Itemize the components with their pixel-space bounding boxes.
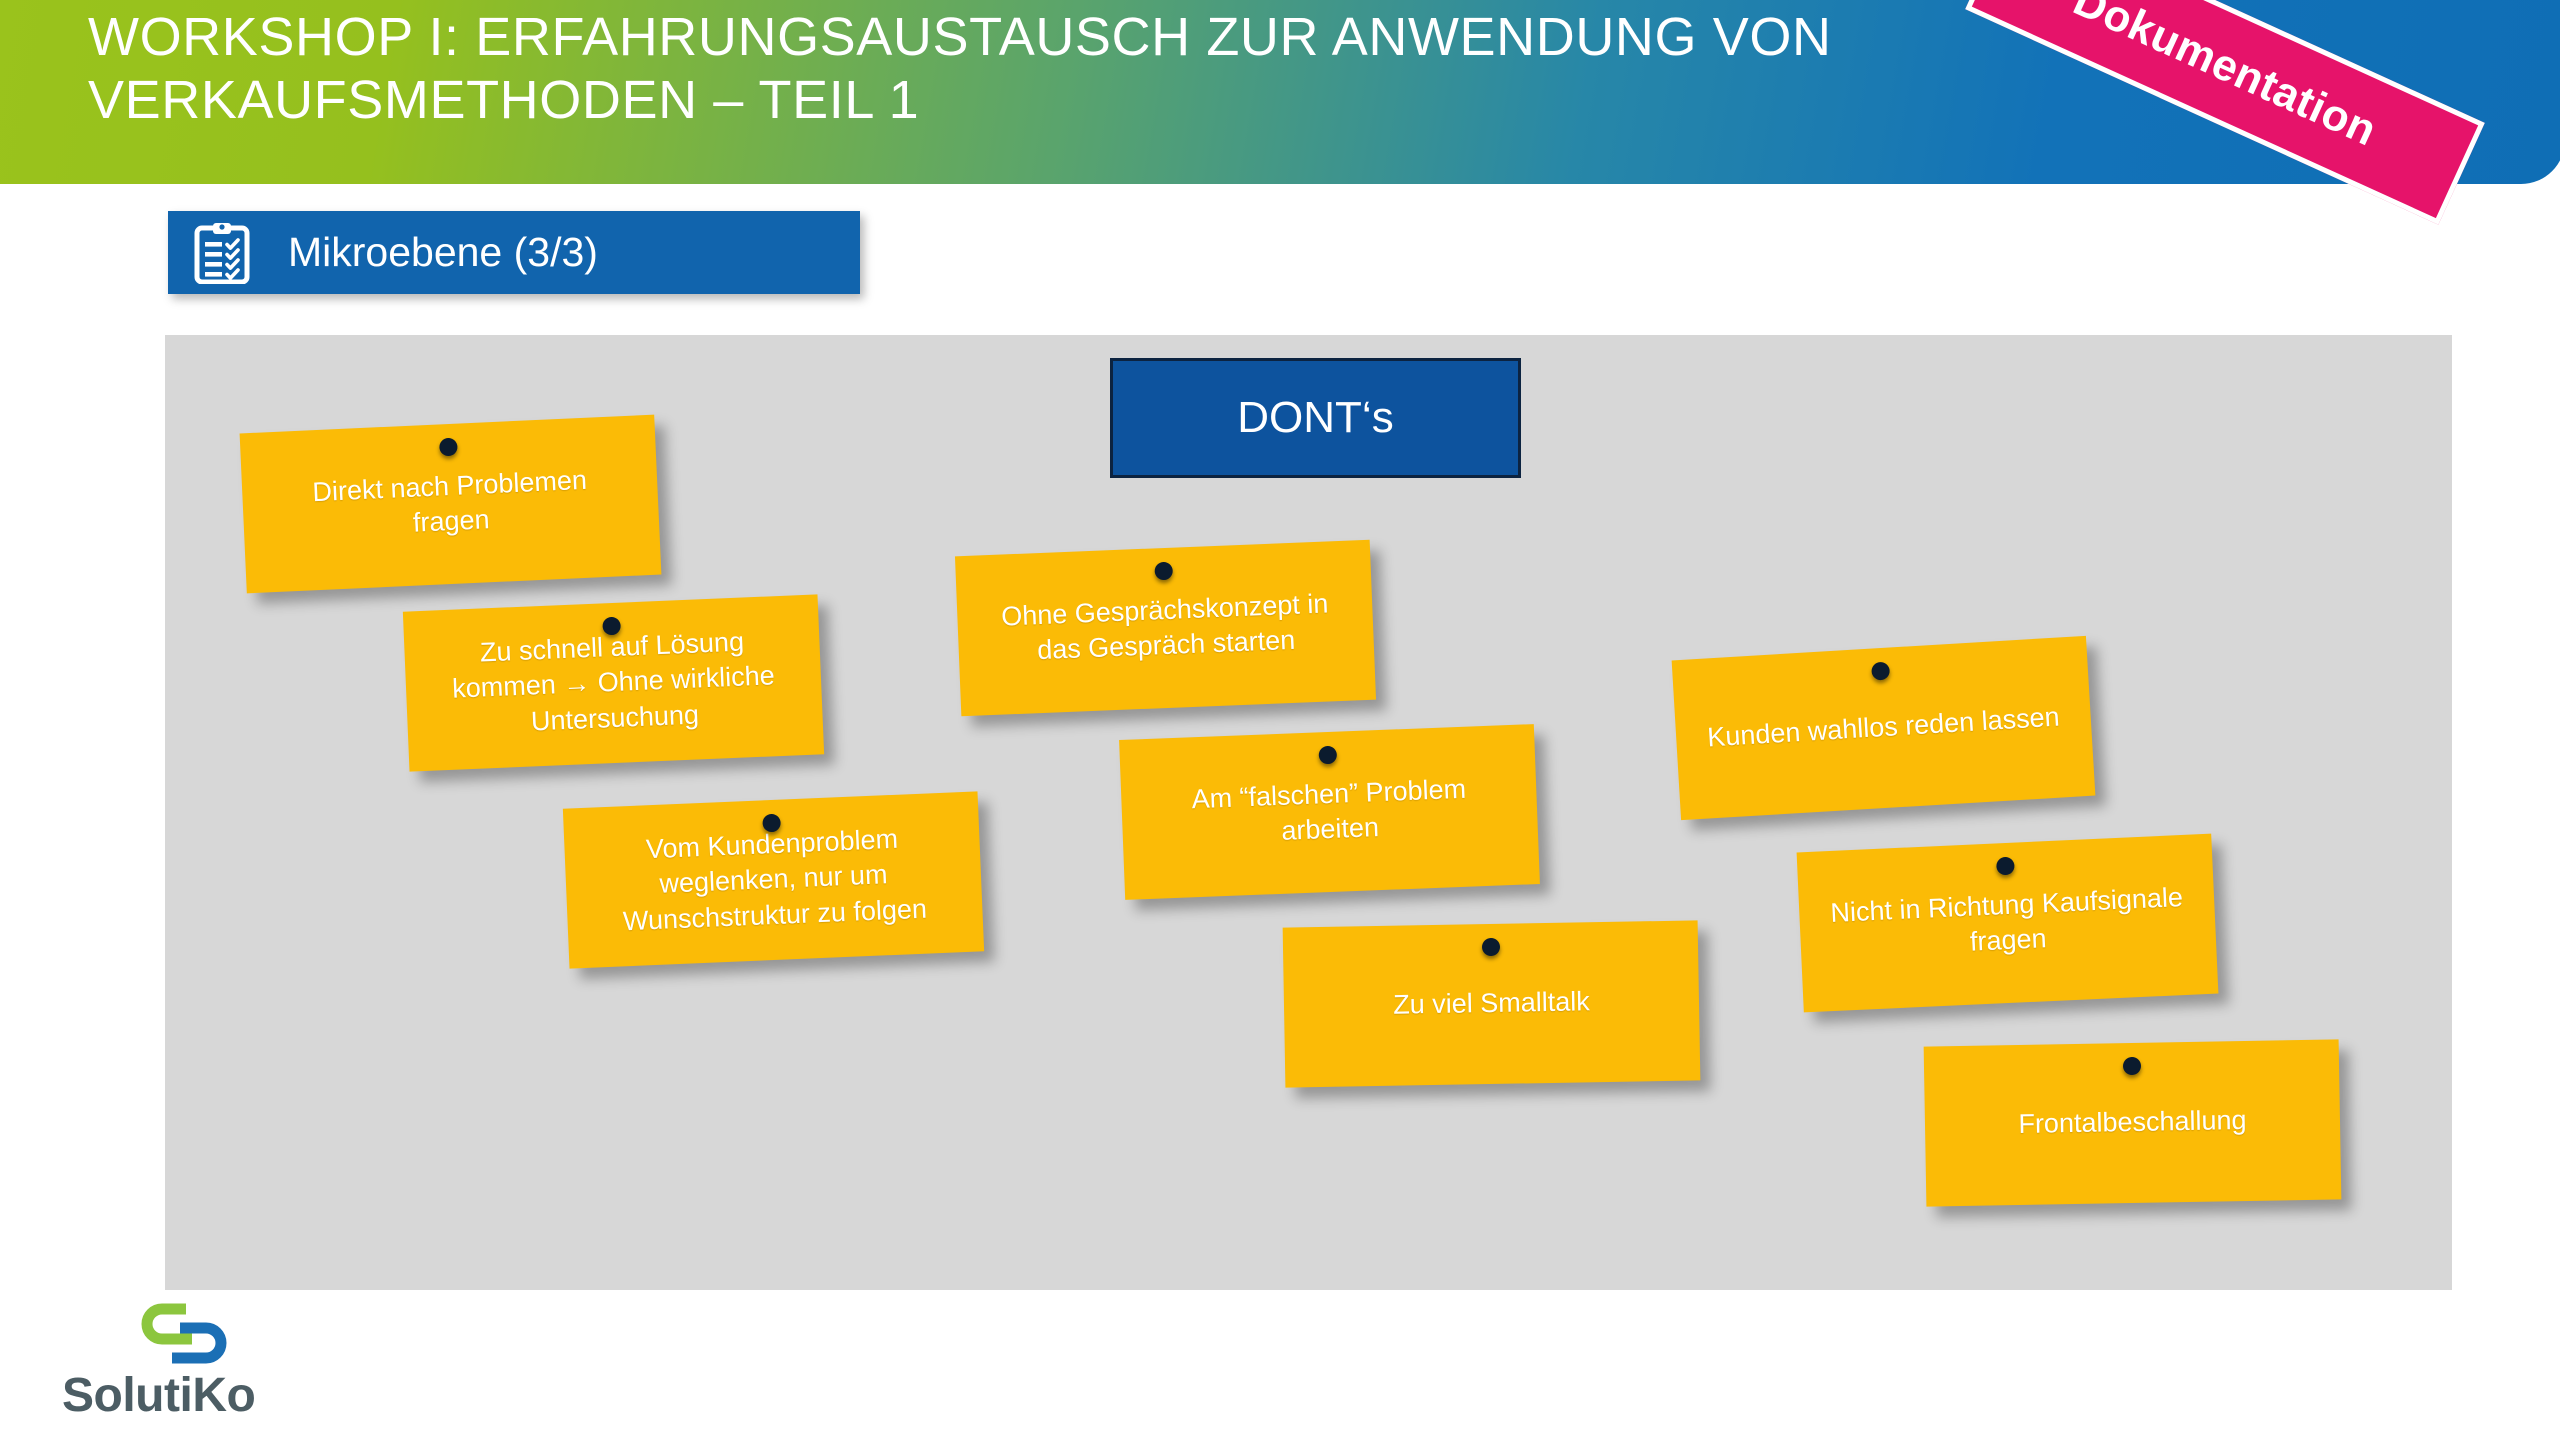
sticky-note-text: Zu schnell auf Lösung kommen → Ohne wirk… (450, 624, 777, 743)
pin-icon (1481, 938, 1499, 956)
sticky-note-text: Frontalbeschallung (2018, 1103, 2247, 1142)
sticky-note-text: Zu viel Smalltalk (1393, 985, 1590, 1024)
sticky-note-text: Nicht in Richtung Kaufsignale fragen (1830, 880, 2186, 966)
pin-icon (1318, 746, 1337, 765)
section-badge[interactable]: Mikroebene (3/3) (168, 211, 860, 294)
donts-heading-label: DONT‘s (1237, 393, 1393, 443)
pin-icon (762, 814, 781, 833)
sticky-note[interactable]: Vom Kundenproblem weglenken, nur um Wuns… (563, 791, 984, 968)
sticky-note[interactable]: Kunden wahllos reden lassen (1672, 636, 2096, 820)
sticky-note[interactable]: Zu viel Smalltalk (1283, 920, 1701, 1087)
pin-icon (439, 438, 458, 457)
clipboard-checklist-icon (194, 222, 250, 284)
sticky-note[interactable]: Frontalbeschallung (1924, 1039, 2342, 1206)
pin-icon (1154, 562, 1173, 581)
pin-icon (602, 617, 621, 636)
solutiko-mark-icon (134, 1300, 242, 1371)
sticky-note-text: Vom Kundenproblem weglenken, nur um Wuns… (619, 821, 927, 939)
brand-name: SolutiKo (62, 1368, 255, 1423)
donts-heading: DONT‘s (1110, 358, 1521, 478)
sticky-note-text: Kunden wahllos reden lassen (1706, 700, 2060, 756)
pin-icon (1996, 857, 2015, 876)
sticky-note[interactable]: Direkt nach Problemen fragen (240, 415, 662, 594)
pin-icon (2122, 1057, 2140, 1075)
section-badge-label: Mikroebene (3/3) (288, 229, 598, 276)
sticky-note-text: Am “falschen” Problem arbeiten (1191, 772, 1468, 853)
sticky-note[interactable]: Am “falschen” Problem arbeiten (1119, 724, 1540, 900)
brand-logo: SolutiKo (62, 1300, 362, 1425)
sticky-note[interactable]: Nicht in Richtung Kaufsignale fragen (1797, 834, 2219, 1013)
sticky-note-text: Ohne Gesprächskonzept in das Gespräch st… (1001, 586, 1331, 669)
sticky-note[interactable]: Ohne Gesprächskonzept in das Gespräch st… (955, 540, 1376, 717)
page-title: WORKSHOP I: ERFAHRUNGSAUSTAUSCH ZUR ANWE… (88, 6, 2288, 131)
sticky-note-text: Direkt nach Problemen fragen (312, 463, 590, 546)
pin-icon (1871, 662, 1890, 681)
sticky-note[interactable]: Zu schnell auf Lösung kommen → Ohne wirk… (403, 594, 824, 771)
